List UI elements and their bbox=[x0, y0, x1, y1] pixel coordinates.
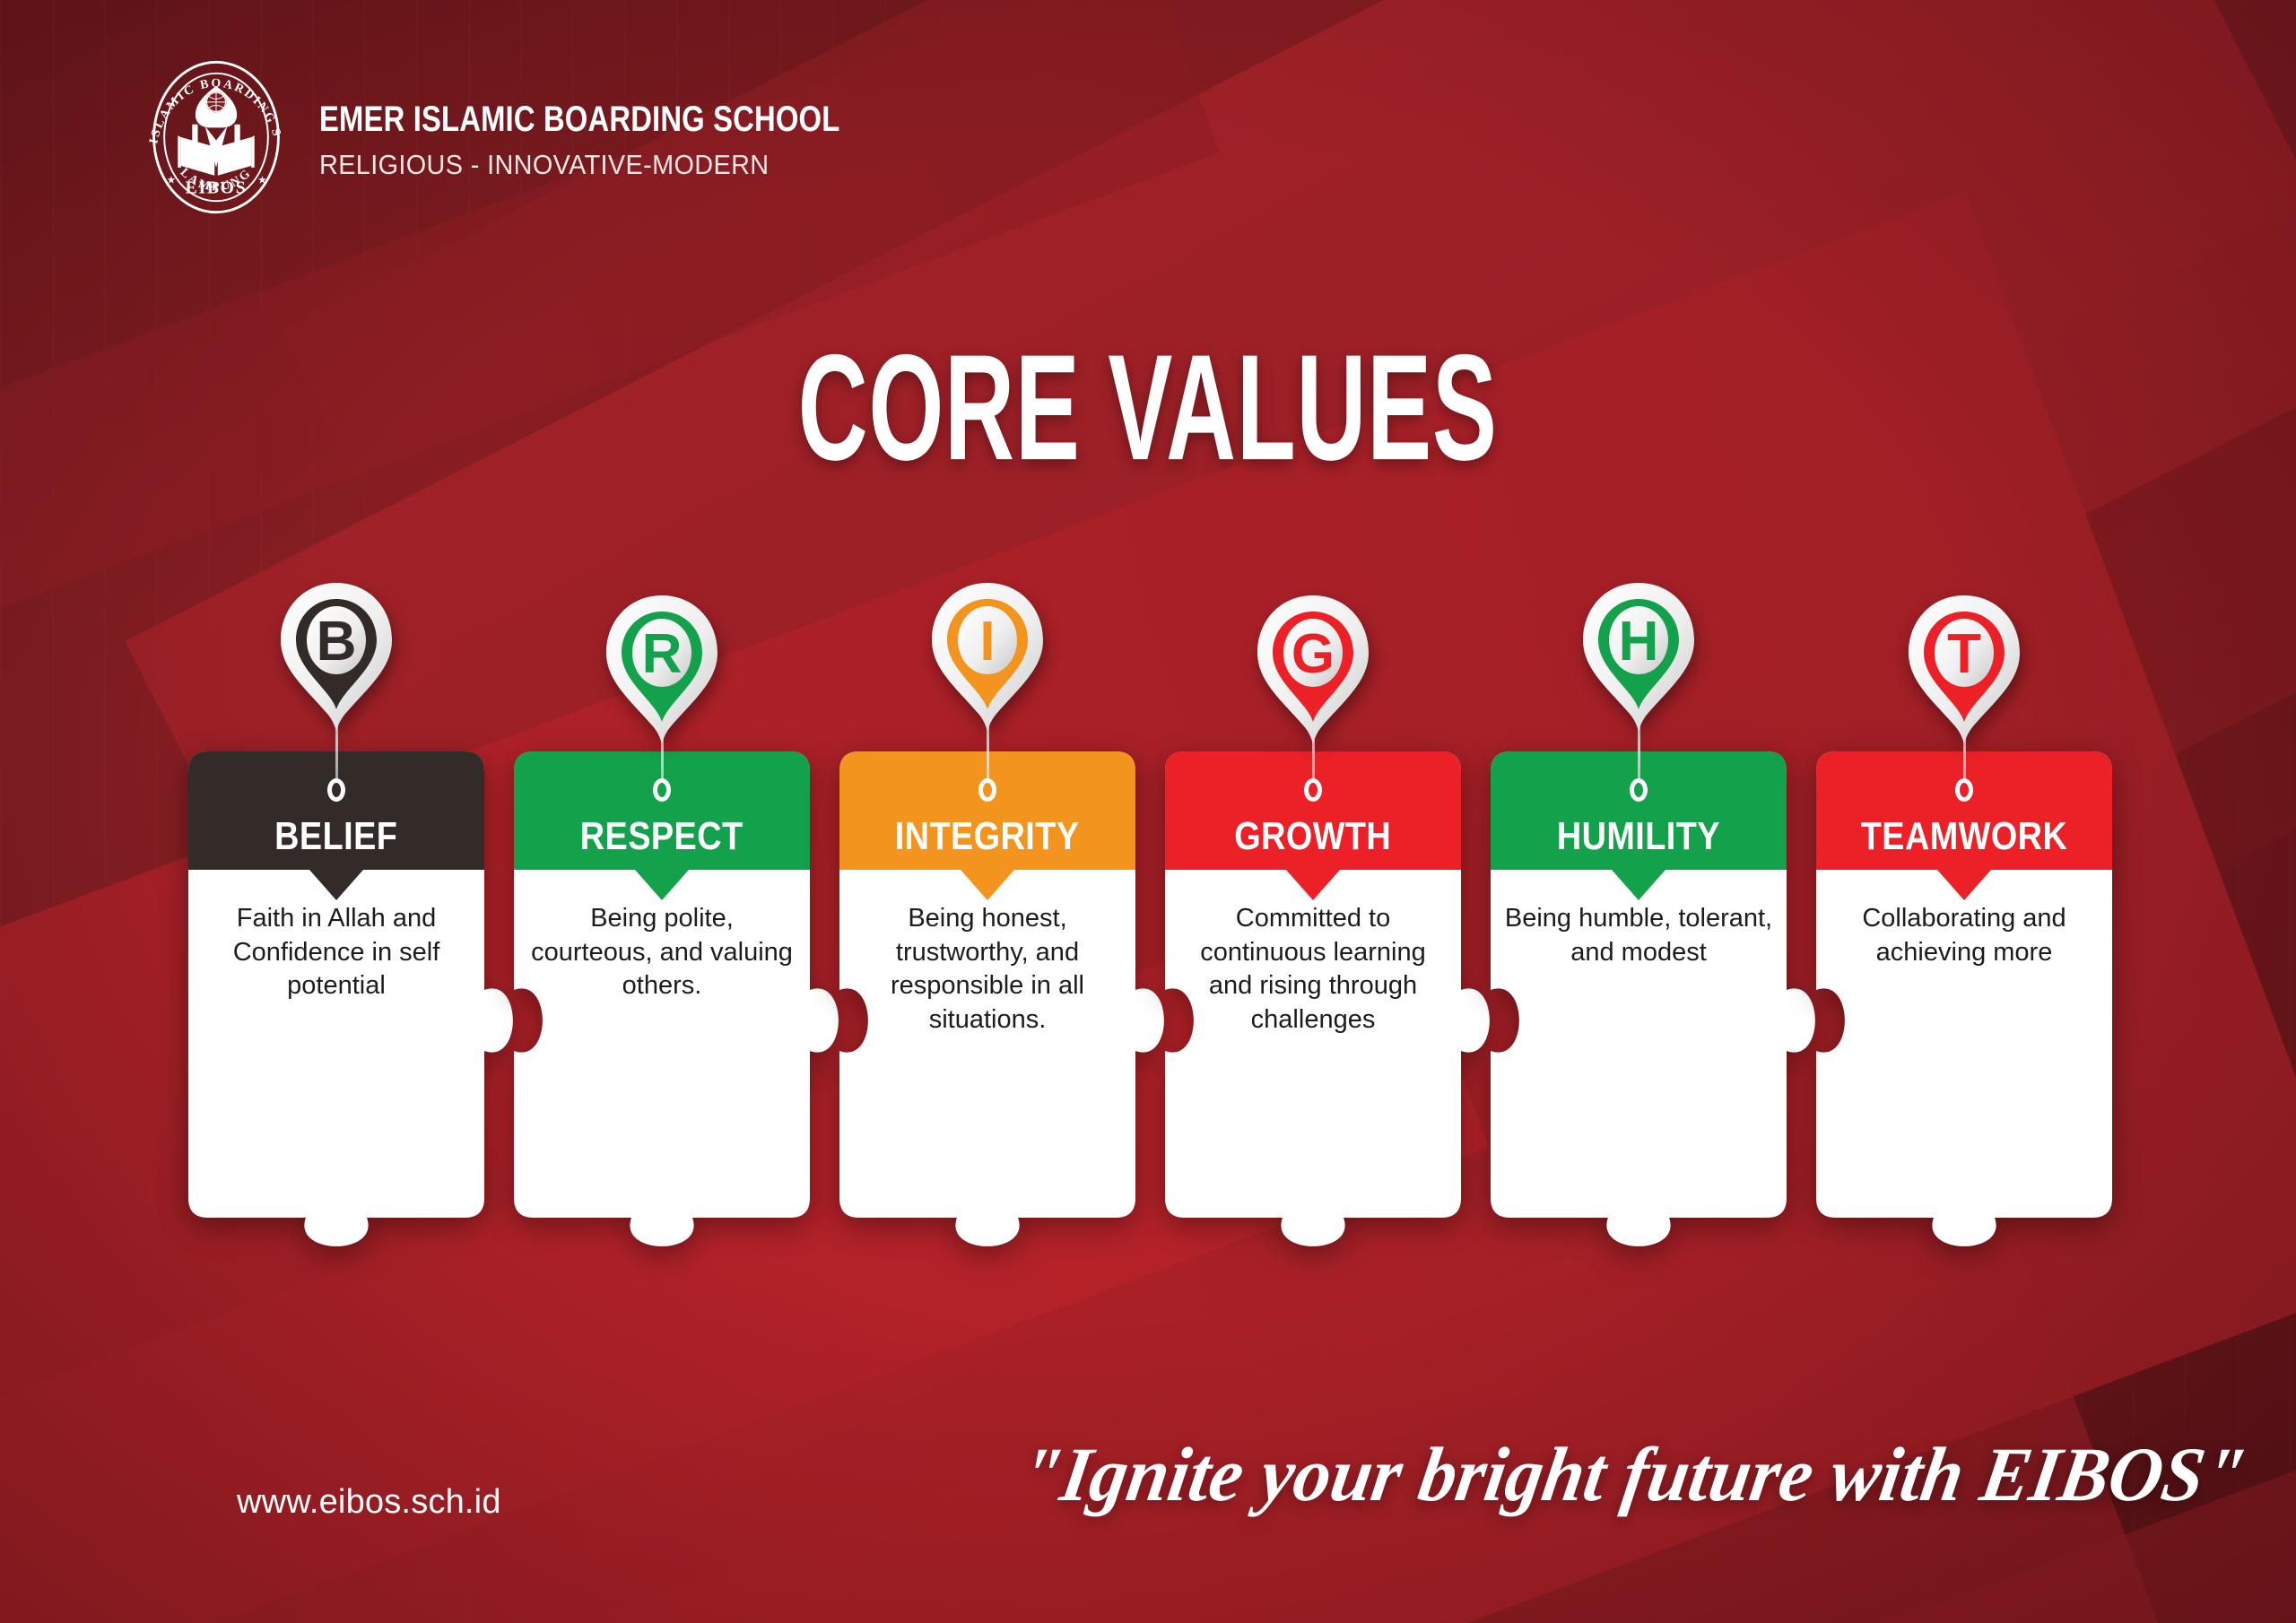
value-pin-r[interactable]: R bbox=[601, 592, 723, 750]
card-heading: GROWTH bbox=[1165, 814, 1461, 859]
svg-text:★: ★ bbox=[257, 176, 266, 187]
seal-center-text: EIBOS bbox=[186, 178, 248, 197]
slogan: "Ignite your bright future with EIBOS" bbox=[1014, 1429, 2253, 1519]
card-description: Being polite, courteous, and valuing oth… bbox=[526, 902, 797, 1003]
card-heading: HUMILITY bbox=[1491, 814, 1787, 859]
school-name: EMER ISLAMIC BOARDING SCHOOL bbox=[319, 100, 839, 140]
value-pin-i[interactable]: I bbox=[926, 579, 1048, 737]
eibos-seal-logo: EMER ISLAMIC BOARDING SCHOOL LAMPUNG ★ ★… bbox=[136, 57, 296, 217]
card-description: Collaborating and achieving more bbox=[1829, 902, 2100, 969]
value-card-belief[interactable]: BELIEF Faith in Allah and Confidence in … bbox=[188, 751, 484, 1218]
pin-letter: H bbox=[1578, 610, 1700, 673]
card-description: Being honest, trustworthy, and responsib… bbox=[852, 902, 1123, 1037]
card-description: Faith in Allah and Confidence in self po… bbox=[201, 902, 472, 1003]
card-heading: TEAMWORK bbox=[1816, 814, 2112, 859]
brand-text-block: EMER ISLAMIC BOARDING SCHOOL RELIGIOUS -… bbox=[319, 94, 954, 181]
school-tagline: RELIGIOUS - INNOVATIVE-MODERN bbox=[319, 149, 909, 181]
svg-text:★: ★ bbox=[167, 176, 176, 187]
value-pin-h[interactable]: H bbox=[1578, 579, 1700, 737]
card-description: Committed to continuous learning and ris… bbox=[1178, 902, 1448, 1037]
pin-letter: R bbox=[601, 622, 723, 686]
brand-header: EMER ISLAMIC BOARDING SCHOOL LAMPUNG ★ ★… bbox=[136, 57, 954, 217]
card-heading: BELIEF bbox=[188, 814, 484, 859]
value-card-integrity[interactable]: INTEGRITY Being honest, trustworthy, and… bbox=[839, 751, 1135, 1218]
value-card-respect[interactable]: RESPECT Being polite, courteous, and val… bbox=[514, 751, 810, 1218]
card-heading: INTEGRITY bbox=[839, 814, 1135, 859]
card-description: Being humble, tolerant, and modest bbox=[1503, 902, 1774, 969]
pin-letter: T bbox=[1903, 622, 2025, 686]
page-title: CORE VALUES bbox=[0, 330, 2296, 485]
value-card-humility[interactable]: HUMILITY Being humble, tolerant, and mod… bbox=[1491, 751, 1787, 1218]
pin-letter: I bbox=[926, 610, 1048, 673]
value-pin-b[interactable]: B bbox=[275, 579, 397, 737]
page-title-text: CORE VALUES bbox=[798, 321, 1498, 495]
card-heading: RESPECT bbox=[514, 814, 810, 859]
value-card-teamwork[interactable]: TEAMWORK Collaborating and achieving mor… bbox=[1816, 751, 2112, 1218]
pin-letter: B bbox=[275, 610, 397, 673]
website-url[interactable]: www.eibos.sch.id bbox=[237, 1483, 501, 1522]
core-values-puzzle-row: BELIEF Faith in Allah and Confidence in … bbox=[188, 751, 2115, 1218]
value-pin-t[interactable]: T bbox=[1903, 592, 2025, 750]
value-card-growth[interactable]: GROWTH Committed to continuous learning … bbox=[1165, 751, 1461, 1218]
pin-letter: G bbox=[1252, 622, 1374, 686]
value-pin-g[interactable]: G bbox=[1252, 592, 1374, 750]
